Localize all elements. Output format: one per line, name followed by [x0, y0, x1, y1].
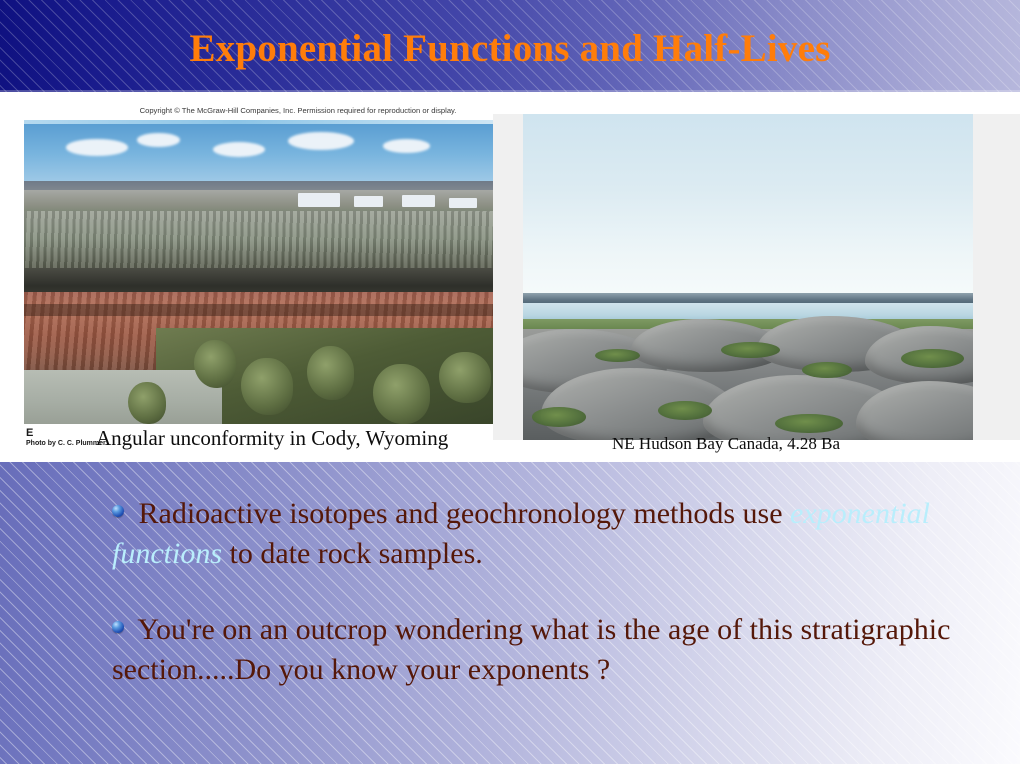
building-shape	[298, 193, 340, 207]
cloud-shape	[66, 139, 127, 156]
bush-shape	[373, 364, 430, 424]
slide-canvas: Exponential Functions and Half-Lives Cop…	[0, 0, 1020, 764]
building-shape	[354, 196, 382, 207]
sphere-bullet-icon	[112, 621, 124, 633]
bush-shape	[194, 340, 236, 388]
figure-left: Copyright © The McGraw-Hill Companies, I…	[24, 106, 496, 451]
plate-letter: E	[26, 428, 106, 439]
cloud-shape	[137, 133, 179, 147]
figure-credit: E Photo by C. C. Plummer	[26, 428, 106, 448]
cloud-shape	[213, 142, 265, 157]
figure-band: Copyright © The McGraw-Hill Companies, I…	[0, 92, 1020, 462]
bullet-text-lead: Radioactive isotopes and geochronology m…	[131, 497, 790, 530]
bush-shape	[307, 346, 354, 400]
building-shape	[449, 198, 477, 208]
bush-shape	[241, 358, 293, 415]
building-shape	[402, 195, 435, 208]
body-content: Radioactive isotopes and geochronology m…	[0, 462, 1020, 764]
caption-right: NE Hudson Bay Canada, 4.28 Ba	[612, 434, 840, 454]
bush-shape	[439, 352, 491, 403]
bullet-item: You're on an outcrop wondering what is t…	[112, 610, 972, 690]
strata-shadow	[24, 304, 496, 316]
sphere-bullet-icon	[112, 505, 124, 517]
moss-patch	[802, 362, 852, 378]
sky-region	[523, 114, 973, 303]
title-banner: Exponential Functions and Half-Lives	[0, 0, 1020, 92]
moss-patch	[595, 349, 640, 362]
caption-left: Angular unconformity in Cody, Wyoming	[96, 426, 448, 451]
moss-patch	[532, 407, 586, 427]
photo-hudson-bay	[523, 114, 973, 440]
bush-shape	[128, 382, 166, 424]
copyright-notice: Copyright © The McGraw-Hill Companies, I…	[100, 106, 496, 115]
bullet-text-lead: You're on an outcrop wondering what is t…	[112, 613, 950, 686]
photo-angular-unconformity	[24, 124, 496, 424]
cloud-shape	[288, 132, 354, 150]
photo-credit: Photo by C. C. Plummer	[26, 439, 106, 448]
moss-patch	[901, 349, 964, 369]
cloud-shape	[383, 139, 430, 153]
bullet-text-tail: to date rock samples.	[222, 537, 483, 570]
page-title: Exponential Functions and Half-Lives	[0, 26, 1020, 71]
bullet-item: Radioactive isotopes and geochronology m…	[112, 494, 952, 574]
river-region	[24, 370, 222, 424]
